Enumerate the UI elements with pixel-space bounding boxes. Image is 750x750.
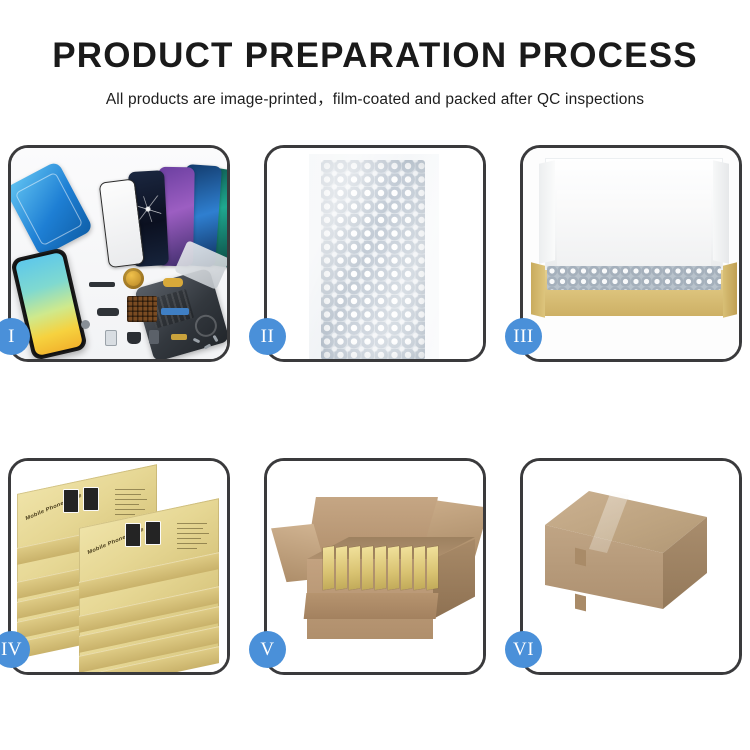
bubble-wrapped-contents [547, 266, 721, 290]
box-art-phone-2 [145, 521, 161, 545]
step-panel-sealed-carton: VI [520, 458, 742, 675]
step-image-stacked-retail-boxes: Mobile Phone Spare Parts [11, 461, 227, 672]
battery-part [105, 330, 117, 346]
product-preparation-page: PRODUCT PREPARATION PROCESS All products… [0, 0, 750, 750]
step-image-inner-box-packing [523, 148, 739, 359]
carton-flap-front [304, 593, 439, 619]
connector-part [97, 308, 119, 316]
step-image-products-and-spare-parts [11, 148, 227, 359]
packed-retail-boxes [323, 547, 443, 589]
speaker-part [127, 332, 141, 344]
chip-grid-icon [127, 296, 157, 322]
step-image-carton-loading [267, 461, 483, 672]
step-badge-3: III [505, 318, 542, 355]
carton-hand-hole-top [575, 548, 586, 567]
blue-flex-part [161, 308, 189, 315]
foam-insert [557, 190, 711, 268]
process-steps-grid: I II [8, 145, 742, 675]
step-panel-stacked-retail-boxes: Mobile Phone Spare Parts [8, 458, 230, 675]
box-spec-lines [177, 521, 213, 555]
step-badge-6: VI [505, 631, 542, 668]
gold-strip-part [171, 334, 187, 340]
box-art-phone-2 [83, 487, 99, 511]
step-badge-5: V [249, 631, 286, 668]
button-part [81, 320, 90, 329]
copper-coil-icon [123, 268, 144, 289]
step-badge-2: II [249, 318, 286, 355]
step-panel-products-and-spare-parts: I [8, 145, 230, 362]
process-row-top: I II [8, 145, 742, 362]
process-row-bottom: Mobile Phone Spare Parts [8, 458, 742, 675]
box-art-phone-1 [63, 489, 79, 513]
step-panel-bubble-wrap-packing: II [264, 145, 486, 362]
page-subtitle: All products are image-printed，film-coat… [0, 87, 750, 109]
step-panel-carton-loading: V [264, 458, 486, 675]
carton-hand-hole-bottom [575, 594, 586, 612]
box-art-phone-1 [125, 523, 141, 547]
step-image-bubble-wrap-packing [267, 148, 483, 359]
gold-bracket-part [163, 278, 183, 287]
step-image-sealed-carton [523, 461, 739, 672]
camera-module-part [149, 330, 159, 344]
page-title: PRODUCT PREPARATION PROCESS [0, 38, 750, 73]
step-panel-inner-box-packing: III [520, 145, 742, 362]
flex-cable-part [89, 282, 115, 287]
screws-icon [193, 335, 223, 357]
page-header: PRODUCT PREPARATION PROCESS All products… [0, 0, 750, 109]
plastic-sheen-overlay [309, 154, 439, 359]
